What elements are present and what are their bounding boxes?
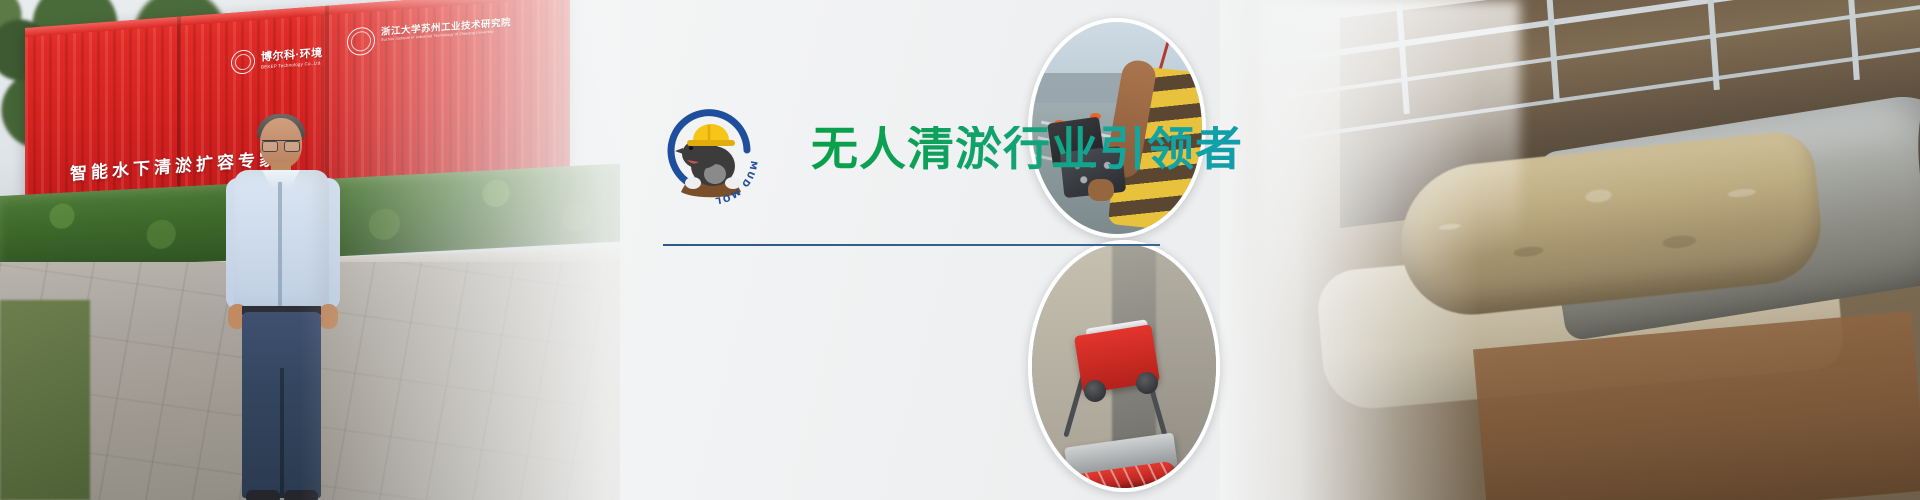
logo-helmet-brim (687, 140, 735, 146)
hero-banner: 博尔科·环境 BEKEP Technology Co.,Ltd. 浙江大学苏州工… (0, 0, 1920, 500)
eyeglasses-icon (262, 140, 300, 150)
right-photo-fade (1220, 0, 1480, 500)
left-photo-fade (300, 0, 620, 500)
headline-text: 无人清淤行业引领者 (811, 126, 1243, 173)
left-photo: 博尔科·环境 BEKEP Technology Co.,Ltd. 浙江大学苏州工… (0, 0, 620, 500)
logo-mole-paw (685, 177, 701, 189)
robot-wheel (1136, 372, 1158, 394)
person-shirt-placket (278, 182, 282, 308)
person-leg-seam (280, 368, 284, 498)
pipe-mouth (1908, 91, 1920, 279)
robot-wheel (1084, 380, 1106, 402)
logo-mole-snout (675, 148, 683, 154)
container-seam (177, 17, 181, 207)
person-left-shoe (246, 490, 280, 500)
divider-line (663, 244, 1160, 246)
logo-mole-eye (689, 146, 693, 150)
mud-mole-logo: MUD MOLE (663, 104, 759, 208)
grass-verge (0, 300, 90, 500)
logo-helmet (693, 124, 729, 142)
dredging-robot-photo-oval (1028, 240, 1220, 492)
center-content: MUD MOLE 无人清淤行业引领者 (663, 96, 1183, 266)
right-photo (1220, 0, 1920, 500)
